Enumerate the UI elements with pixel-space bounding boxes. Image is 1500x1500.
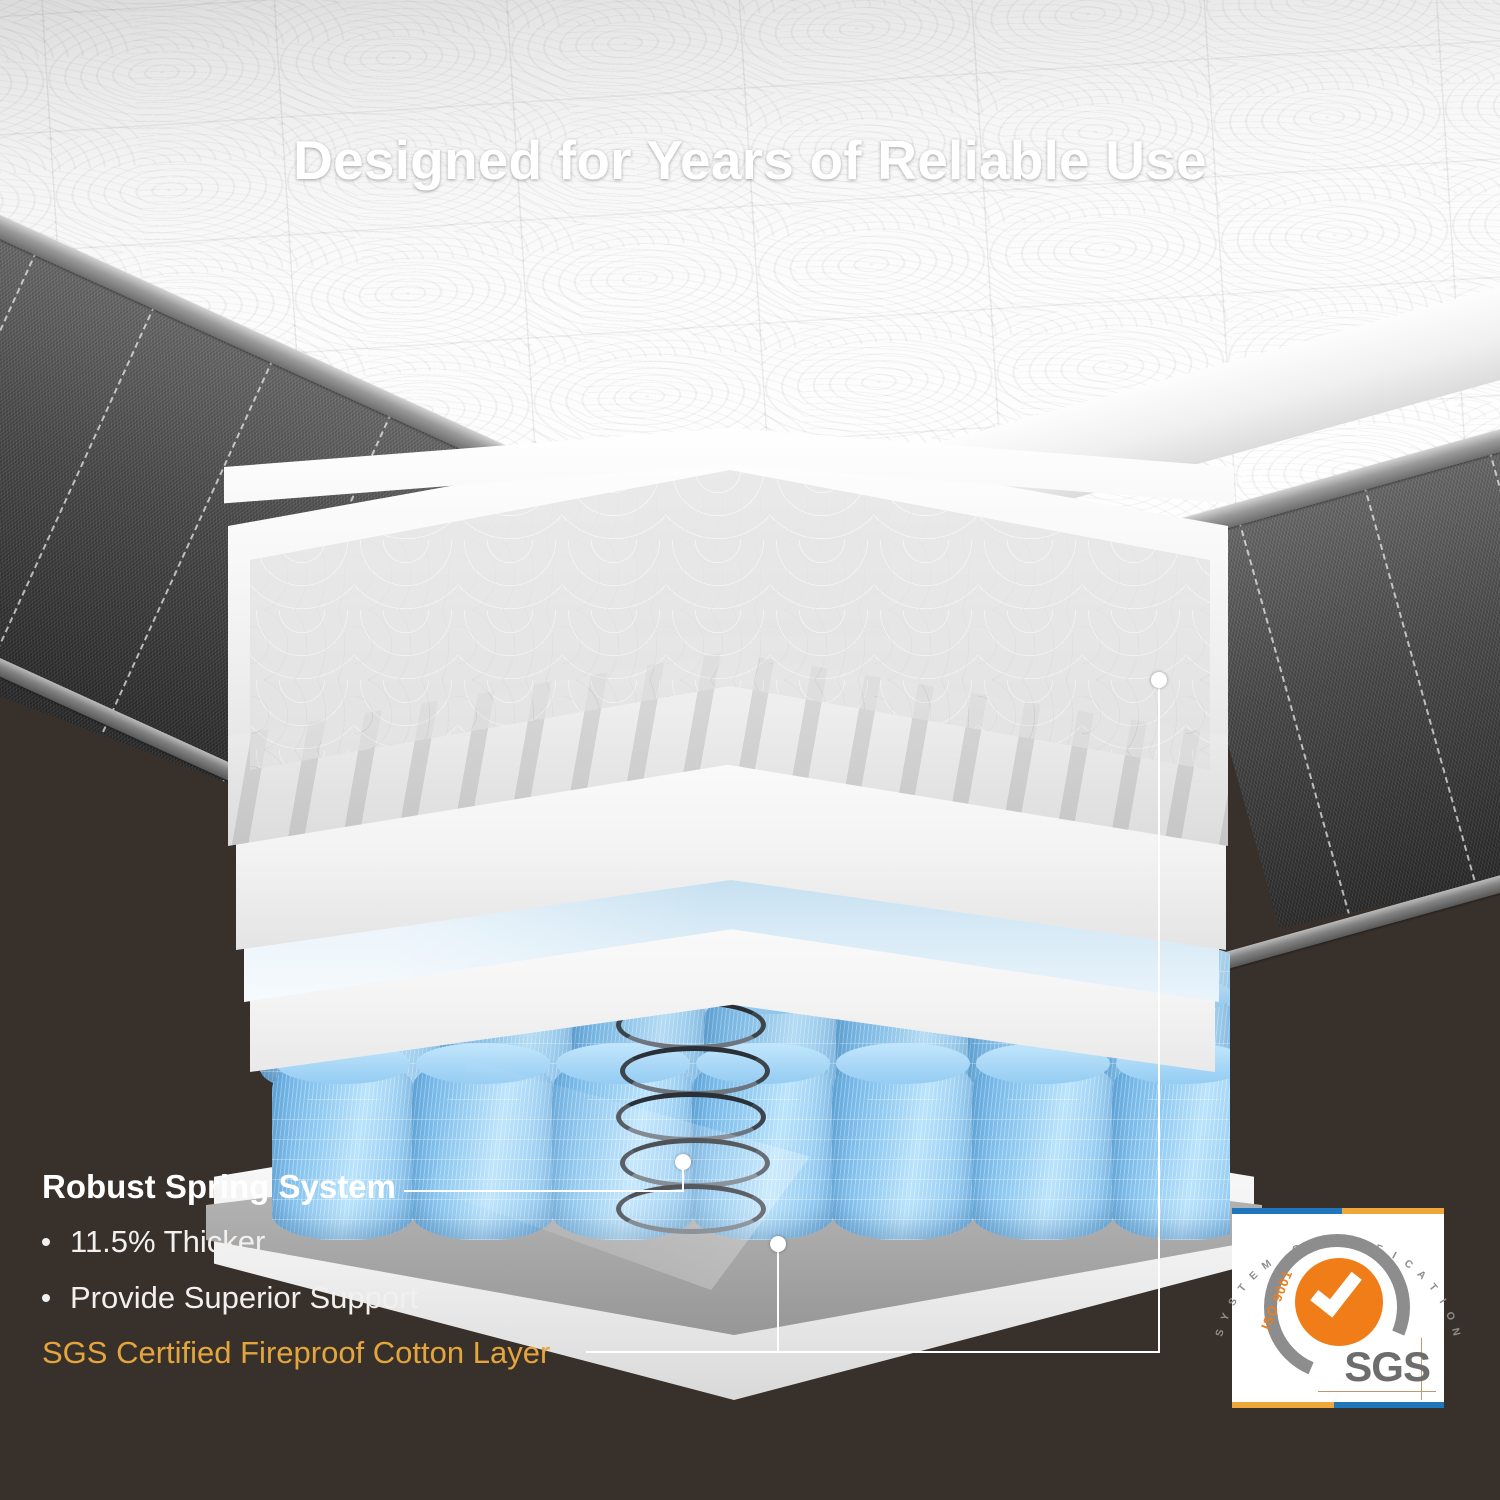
badge-arc-char: I [1390,1250,1399,1262]
badge-arc-char: R [1325,1236,1334,1249]
bullet-dot-icon [42,1238,50,1246]
badge-arc-char: I [1360,1238,1366,1251]
badge-arc-char: C [1291,1242,1303,1256]
bullet-label: 11.5% Thicker [70,1224,265,1260]
badge-arc-char: F [1374,1242,1385,1256]
badge-arc-char: E [1247,1268,1261,1282]
badge-arc-char: E [1308,1238,1318,1251]
bullet-item-support: Provide Superior Support [42,1280,418,1316]
bullet-dot-icon [42,1294,50,1302]
badge-rule-blue [1232,1208,1342,1214]
badge-arc-char: A [1415,1268,1429,1283]
badge-arc-char: T [1236,1281,1250,1294]
spring-coil-ring [620,1046,770,1096]
sgs-certification-badge: SYSTEM CERTIFICATION ISO 9001 SGS [1232,1208,1444,1408]
leader-line-fireproof-riser-a [777,1249,779,1352]
badge-rule-orange [1232,1402,1334,1408]
leader-line-fireproof-horizontal [586,1351,1160,1353]
pocket-coil [832,1056,974,1240]
leader-dot-foam-layer [1151,672,1167,688]
badge-wordmark: SGS [1344,1346,1430,1388]
badge-rule-orange [1342,1208,1444,1214]
page-title: Designed for Years of Reliable Use [0,128,1500,192]
bullet-label: Provide Superior Support [70,1280,418,1316]
product-feature-image: Designed for Years of Reliable Use Robus… [0,0,1500,1500]
callout-spring-system-title: Robust Spring System [42,1168,396,1206]
bullet-item-thickness: 11.5% Thicker [42,1224,265,1260]
leader-line-fireproof-riser-b [1158,684,1160,1352]
badge-top-rule [1232,1208,1444,1214]
leader-line-spring-vertical [682,1162,684,1192]
badge-bottom-rule [1232,1402,1444,1408]
badge-arc-char: T [1426,1281,1440,1294]
badge-wordmark-rule-h [1318,1391,1436,1393]
badge-rule-blue [1334,1402,1444,1408]
callout-fireproof-cotton-label: SGS Certified Fireproof Cotton Layer [42,1335,550,1371]
pocket-coil [272,1056,414,1240]
leader-dot-fireproof [770,1236,786,1252]
badge-arc-char: T [1342,1236,1350,1248]
leader-line-spring-horizontal [404,1190,684,1192]
pocket-coil [1112,1056,1230,1240]
pocket-coil [972,1056,1114,1240]
badge-arc-char: C [1402,1257,1416,1272]
